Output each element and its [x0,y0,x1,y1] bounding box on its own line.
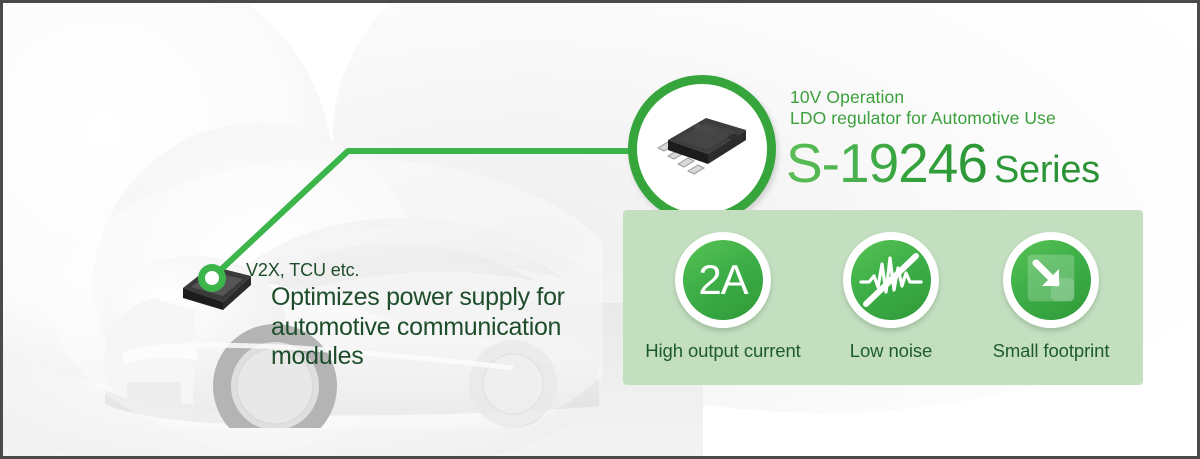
application-headline: Optimizes power supply for automotive co… [271,283,616,372]
no-noise-waveform-icon [851,240,931,320]
feature-label: High output current [625,340,821,362]
feature-low-noise: Low noise [821,232,961,362]
subheading-line-1: 10V Operation [790,87,904,107]
feature-label: Small footprint [961,340,1141,362]
feature-label: Low noise [821,340,961,362]
product-part-number: S-19246 [786,132,987,194]
feature-small-footprint: Small footprint [961,232,1141,362]
package-callout-circle [628,75,776,223]
feature-icon-bubble [1003,232,1099,328]
subheading-line-2: LDO regulator for Automotive Use [790,108,1190,129]
feature-value-2a: 2A [683,240,763,320]
product-banner: 10V Operation LDO regulator for Automoti… [0,0,1200,459]
feature-icon-bubble: 2A [675,232,771,328]
feature-icon-bubble [843,232,939,328]
product-subheading: 10V Operation LDO regulator for Automoti… [790,87,1190,129]
product-title: S-19246Series [786,134,1200,192]
product-series-suffix: Series [987,149,1100,191]
application-kicker: V2X, TCU etc. [246,260,359,281]
shrink-arrow-square-icon [1011,240,1091,320]
feature-high-output-current: 2A High output current [625,232,821,362]
chip-marker-icon [179,258,255,314]
features-panel: 2A High output current Low noise [623,210,1143,385]
ic-package-sop-icon [650,112,754,186]
current-2a-icon: 2A [683,240,763,320]
